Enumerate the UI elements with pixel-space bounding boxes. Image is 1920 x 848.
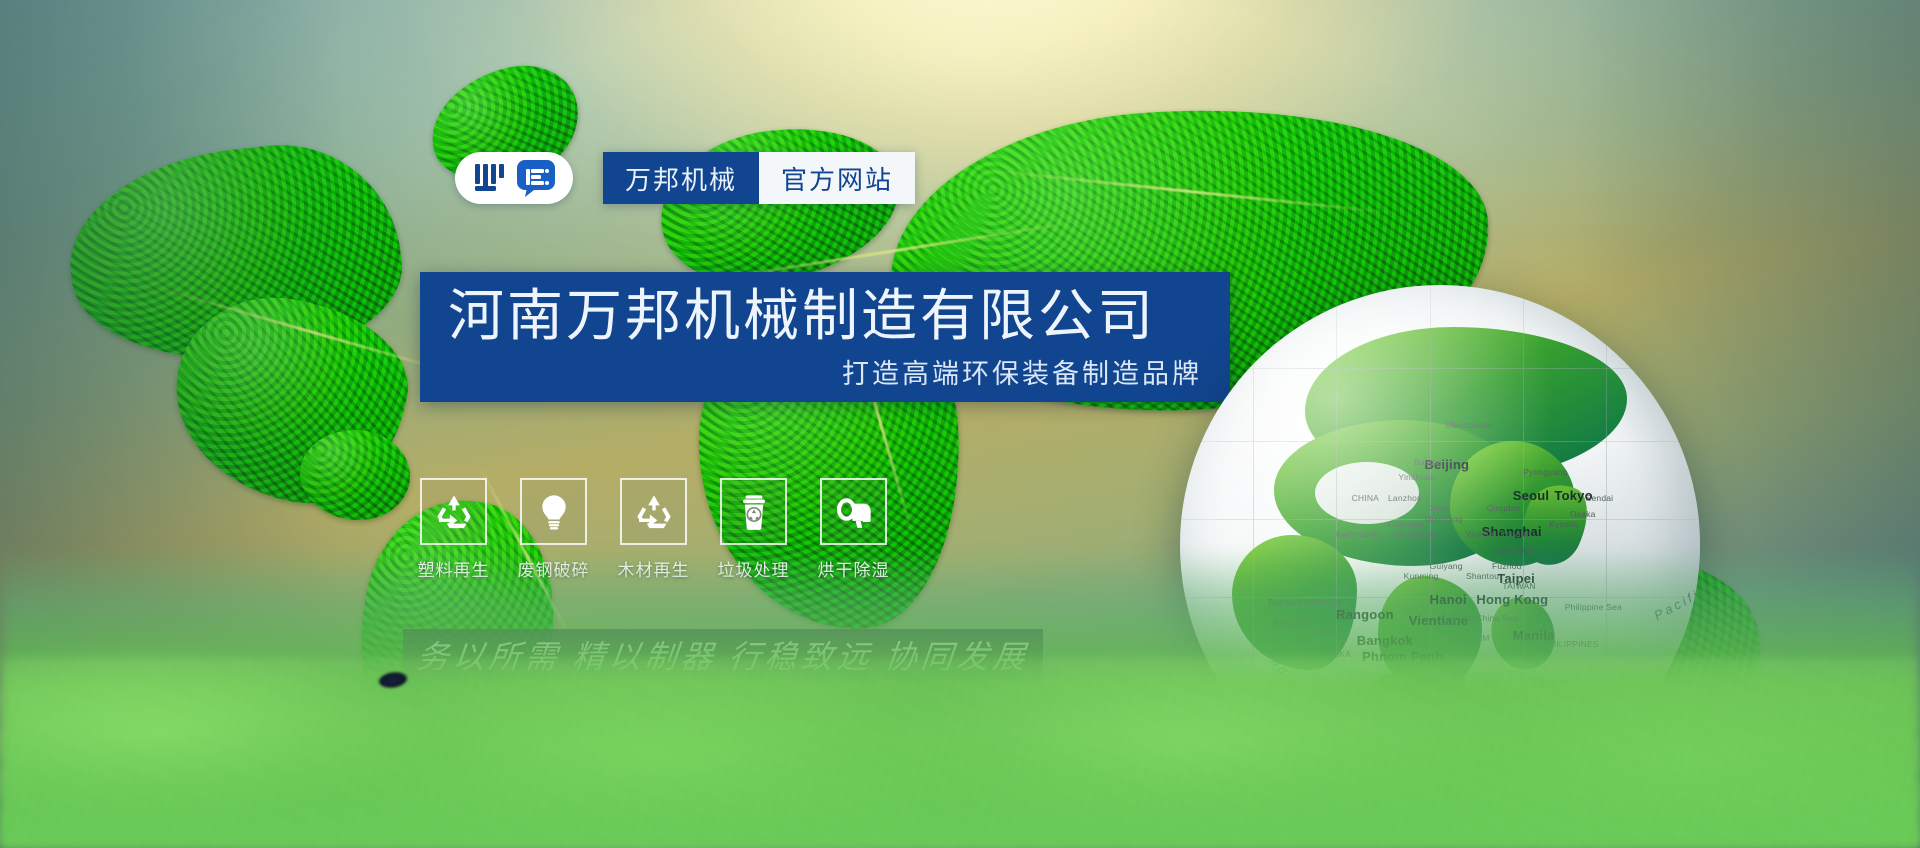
logo-w-mark (473, 162, 509, 194)
dryer-blower-icon (834, 492, 874, 532)
recycle-icon (634, 492, 674, 532)
globe-place-label: Kathmandu (1336, 529, 1381, 539)
globe-place-label: CHINA (1352, 493, 1379, 503)
globe-place-label: Baotou (1414, 457, 1442, 467)
hero-title-panel: 河南万邦机械制造有限公司 打造高端环保装备制造品牌 (420, 272, 1230, 402)
tab-wanbang-machinery[interactable]: 万邦机械 (603, 152, 759, 204)
lightbulb-icon (534, 492, 574, 532)
wb-logo-icon[interactable] (455, 152, 573, 204)
globe-place-label: Chongqing (1393, 529, 1436, 539)
logo-b-mark (516, 158, 556, 198)
site-nav-tabs[interactable]: 万邦机械 官方网站 (603, 152, 915, 204)
globe-place-label: Yinchuan (1398, 472, 1435, 482)
globe-place-label: Qingdao (1487, 503, 1521, 513)
globe-city-label: Seoul (1513, 488, 1549, 503)
feature-icon-box[interactable] (520, 478, 587, 545)
globe-place-label: Chengdu (1388, 519, 1424, 529)
feature-icon-box[interactable] (820, 478, 887, 545)
globe-place-label: Lanzhou (1388, 493, 1422, 503)
globe-place-label: Xian (1430, 503, 1448, 513)
globe-place-label: Osaka (1570, 509, 1596, 519)
grass-blades-foreground (0, 658, 1920, 848)
hero-banner: 万邦机械 官方网站 河南万邦机械制造有限公司 打造高端环保装备制造品牌 塑料再生 (0, 0, 1920, 848)
tab-official-website[interactable]: 官方网站 (759, 152, 915, 204)
brand-header: 万邦机械 官方网站 (455, 152, 915, 204)
globe-place-label: Wuhan (1466, 529, 1494, 539)
page-subtitle: 打造高端环保装备制造品牌 (448, 352, 1202, 391)
globe-place-label: Pyongyang (1523, 467, 1567, 477)
globe-place-label: Mianyang (1424, 514, 1462, 524)
page-title: 河南万邦机械制造有限公司 (448, 286, 1202, 346)
trash-bin-icon (734, 492, 774, 532)
feature-icon-box[interactable] (420, 478, 487, 545)
feature-icon-box[interactable] (720, 478, 787, 545)
globe-place-label: Ulaanbaatar (1445, 420, 1494, 430)
globe-place-label: Sendai (1586, 493, 1614, 503)
recycle-icon (434, 492, 474, 532)
globe-place-label: Ningbo (1502, 529, 1530, 539)
feature-icon-box[interactable] (620, 478, 687, 545)
globe-place-label: Kyushu (1549, 519, 1579, 529)
